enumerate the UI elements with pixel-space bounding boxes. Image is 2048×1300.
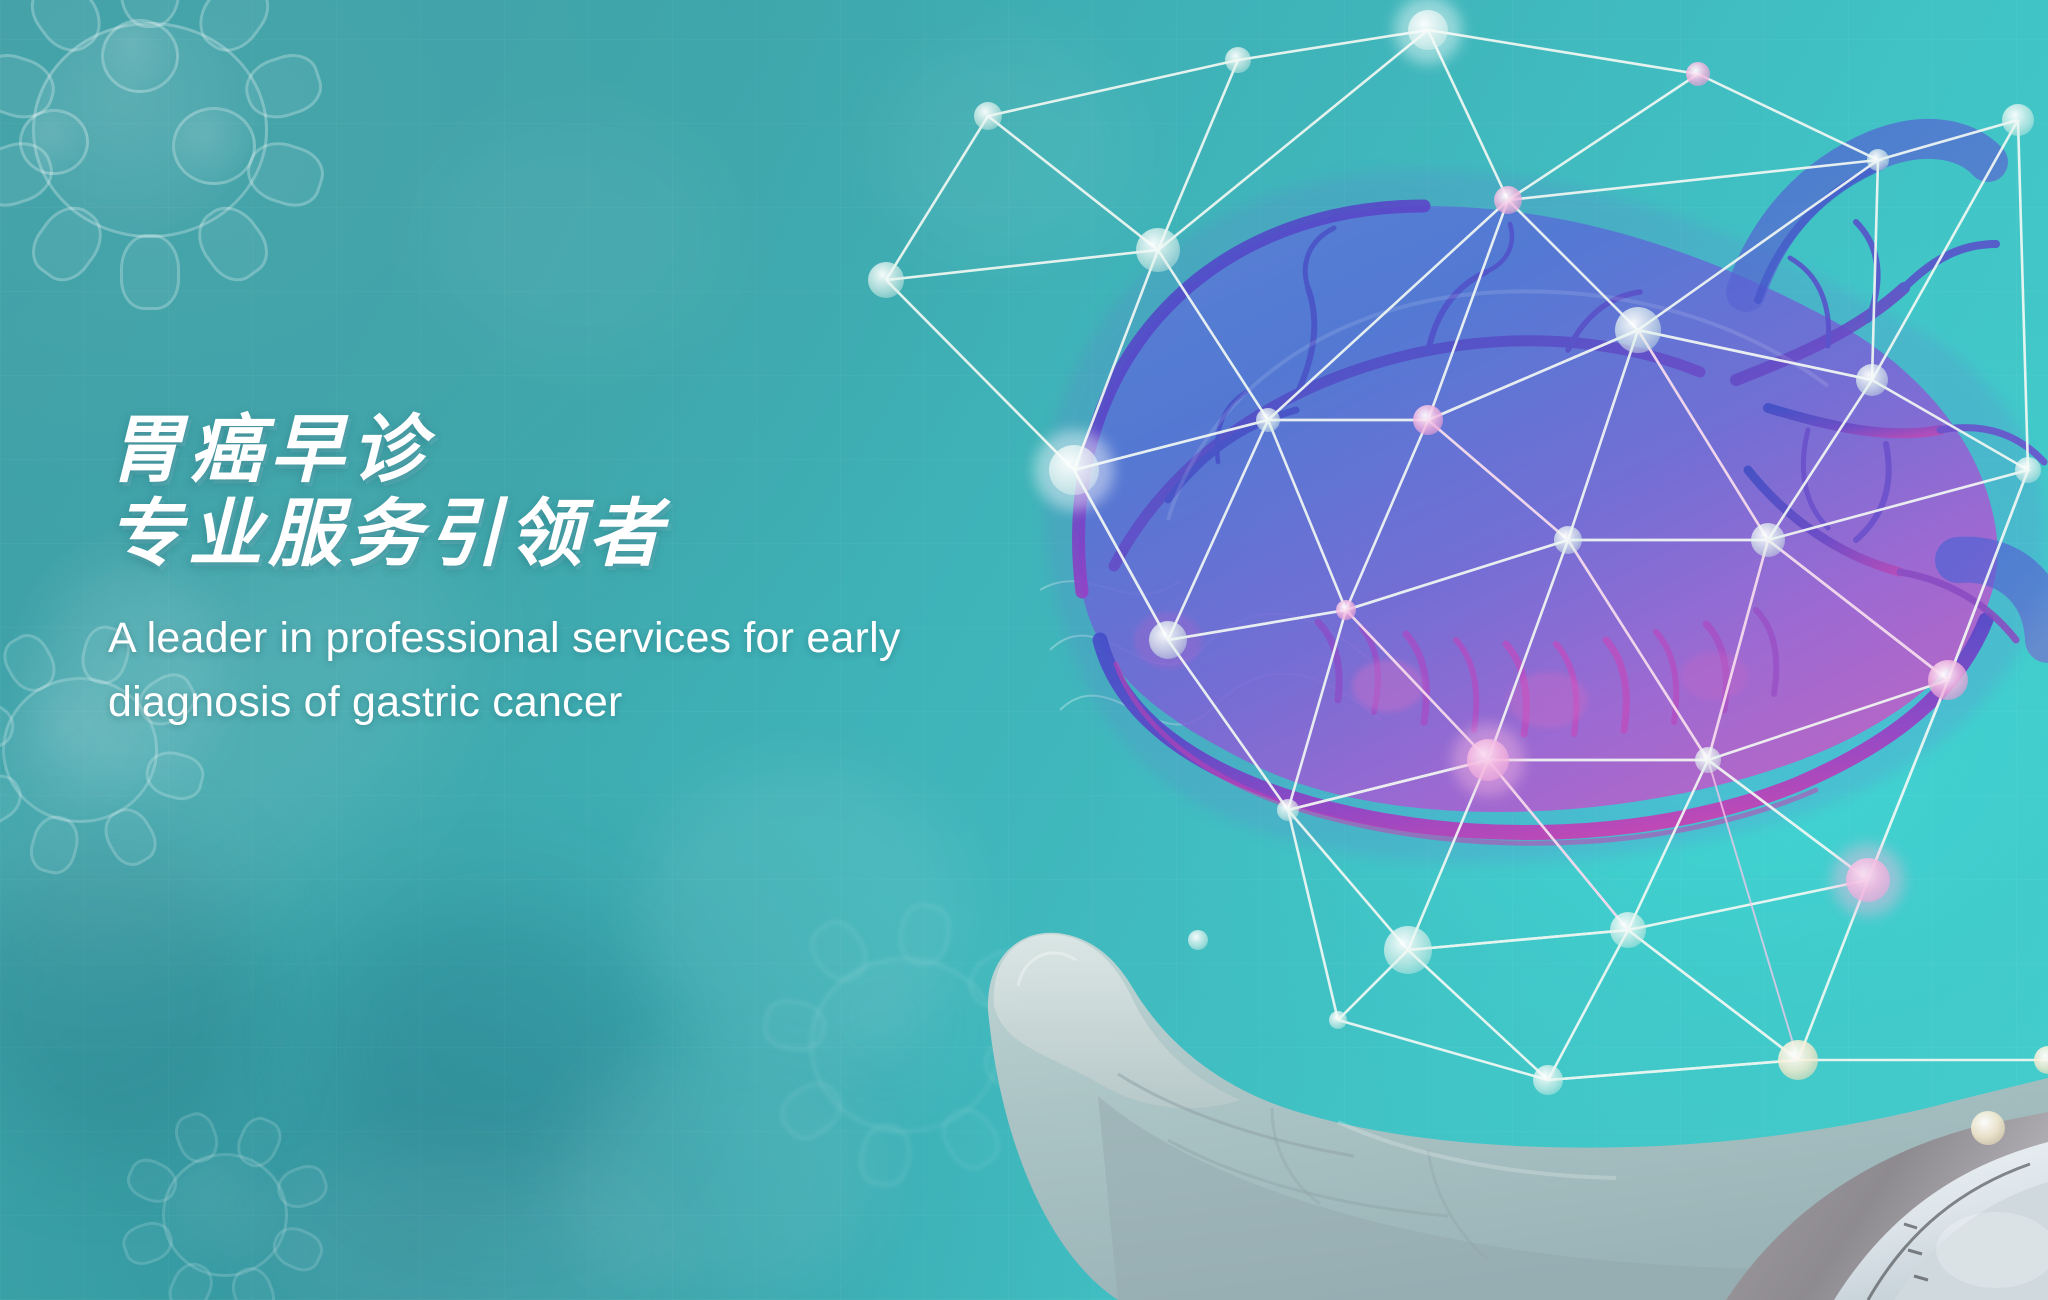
hero-banner: 胃癌早诊 专业服务引领者 A leader in professional se… bbox=[0, 0, 2048, 1300]
network-node bbox=[1751, 523, 1785, 557]
stomach-organ-group bbox=[1045, 139, 2048, 864]
stomach-hand-network-illustration bbox=[868, 0, 2048, 1300]
virus-cell-watermark-topleft bbox=[0, 0, 360, 330]
network-node bbox=[1329, 1011, 1347, 1029]
network-node bbox=[1928, 660, 1968, 700]
network-node bbox=[1554, 526, 1582, 554]
virus-cell-watermark-bottomleft bbox=[100, 1090, 350, 1300]
bokeh-cell-6 bbox=[250, 1150, 670, 1300]
network-node bbox=[1413, 405, 1443, 435]
stomach-rugae-blob-2 bbox=[1508, 672, 1588, 728]
network-node bbox=[2015, 457, 2041, 483]
subtitle-en-block: A leader in professional services for ea… bbox=[108, 606, 1008, 734]
headline-zh-line-2: 专业服务引领者 bbox=[108, 492, 1008, 576]
bokeh-cell-5 bbox=[560, 1040, 880, 1300]
network-node bbox=[1256, 408, 1280, 432]
network-node bbox=[1615, 307, 1661, 353]
network-node bbox=[1971, 1111, 2005, 1145]
network-node bbox=[1384, 926, 1432, 974]
network-node bbox=[1610, 912, 1646, 948]
stomach-rugae-blob-1 bbox=[1352, 660, 1424, 712]
network-node bbox=[1494, 186, 1522, 214]
network-node bbox=[2034, 1046, 2048, 1074]
bokeh-cell-8 bbox=[430, 120, 730, 360]
network-node bbox=[1695, 747, 1721, 773]
network-node bbox=[1867, 149, 1889, 171]
subtitle-en-line-2: diagnosis of gastric cancer bbox=[108, 670, 1008, 734]
network-node bbox=[1686, 62, 1710, 86]
network-node bbox=[1778, 1040, 1818, 1080]
banner-copy-block: 胃癌早诊 专业服务引领者 A leader in professional se… bbox=[108, 408, 1008, 734]
network-node bbox=[974, 102, 1002, 130]
network-node bbox=[868, 262, 904, 298]
network-node bbox=[1188, 930, 1208, 950]
bokeh-cell-3 bbox=[330, 900, 660, 1200]
network-node bbox=[1225, 47, 1251, 73]
network-node bbox=[2002, 104, 2034, 136]
network-node bbox=[1856, 364, 1888, 396]
network-node bbox=[1149, 621, 1187, 659]
network-node bbox=[1336, 600, 1356, 620]
bokeh-cell-2 bbox=[0, 840, 260, 1160]
network-node bbox=[1533, 1065, 1563, 1095]
network-node bbox=[1136, 228, 1180, 272]
network-node bbox=[1277, 799, 1299, 821]
headline-zh-line-1: 胃癌早诊 bbox=[108, 408, 1008, 492]
subtitle-en-line-1: A leader in professional services for ea… bbox=[108, 606, 1008, 670]
stomach-rugae-blob-3 bbox=[1680, 652, 1748, 700]
